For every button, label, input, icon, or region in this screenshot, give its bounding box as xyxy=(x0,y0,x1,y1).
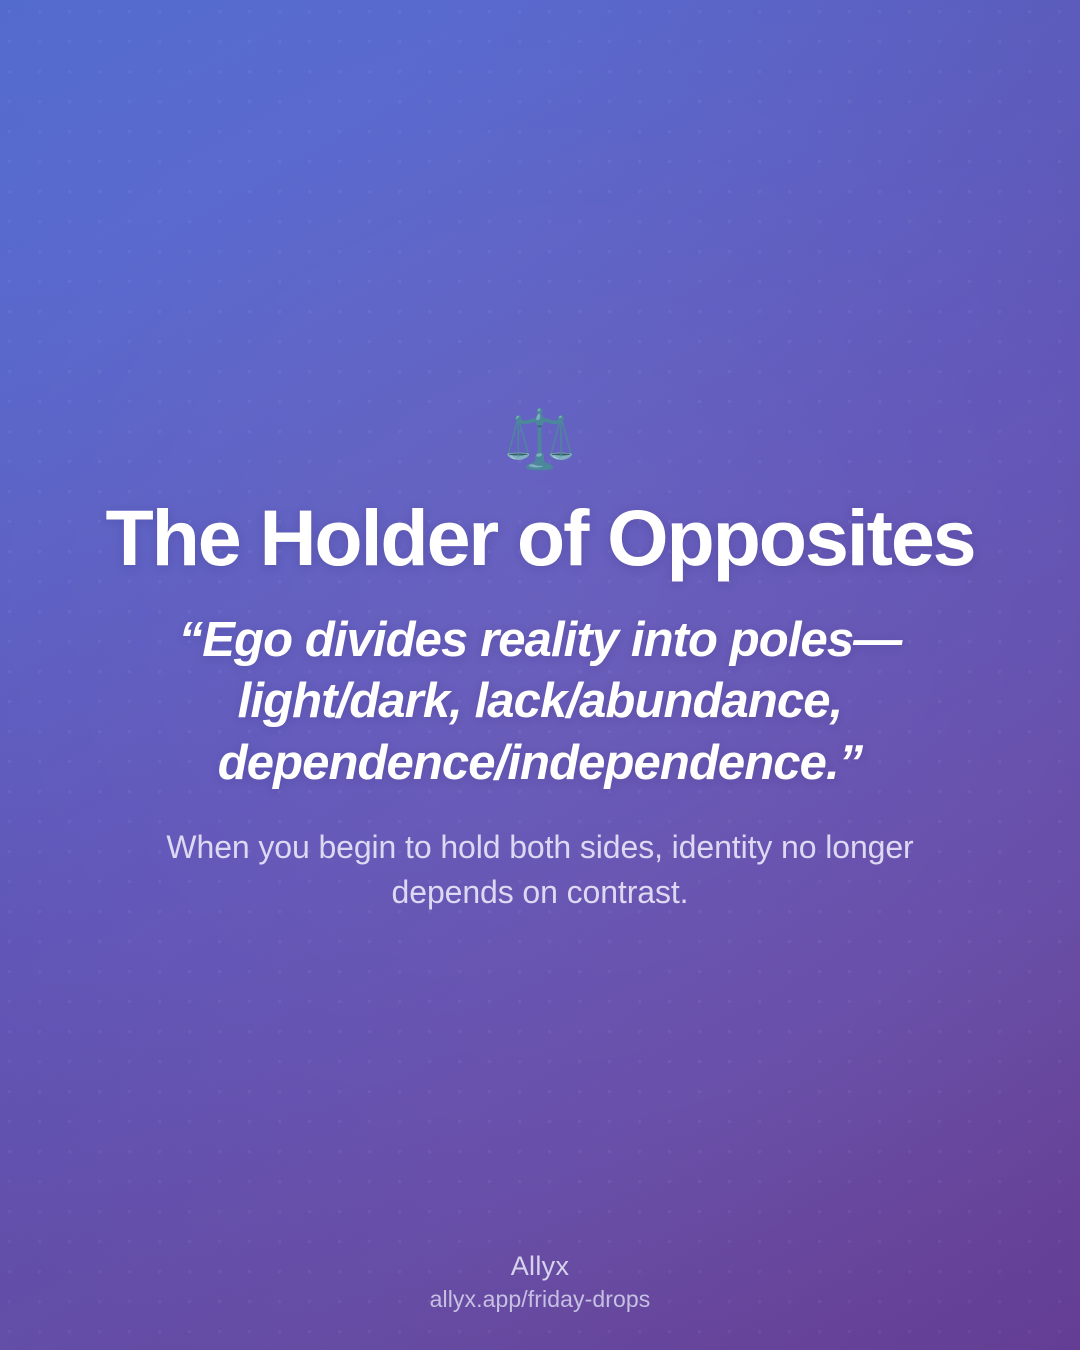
card-footer: Allyx allyx.app/friday-drops xyxy=(0,1251,1080,1314)
card-title: The Holder of Opposites xyxy=(50,496,1030,580)
card-subtitle: When you begin to hold both sides, ident… xyxy=(110,825,970,916)
card-content: ⚖️ The Holder of Opposites “Ego divides … xyxy=(0,0,1080,1350)
card-quote: “Ego divides reality into poles—light/da… xyxy=(140,610,940,795)
quote-card: ⚖️ The Holder of Opposites “Ego divides … xyxy=(0,0,1080,1350)
brand-name: Allyx xyxy=(511,1251,570,1283)
brand-url: allyx.app/friday-drops xyxy=(430,1286,651,1314)
balance-scale-icon: ⚖️ xyxy=(504,410,576,478)
